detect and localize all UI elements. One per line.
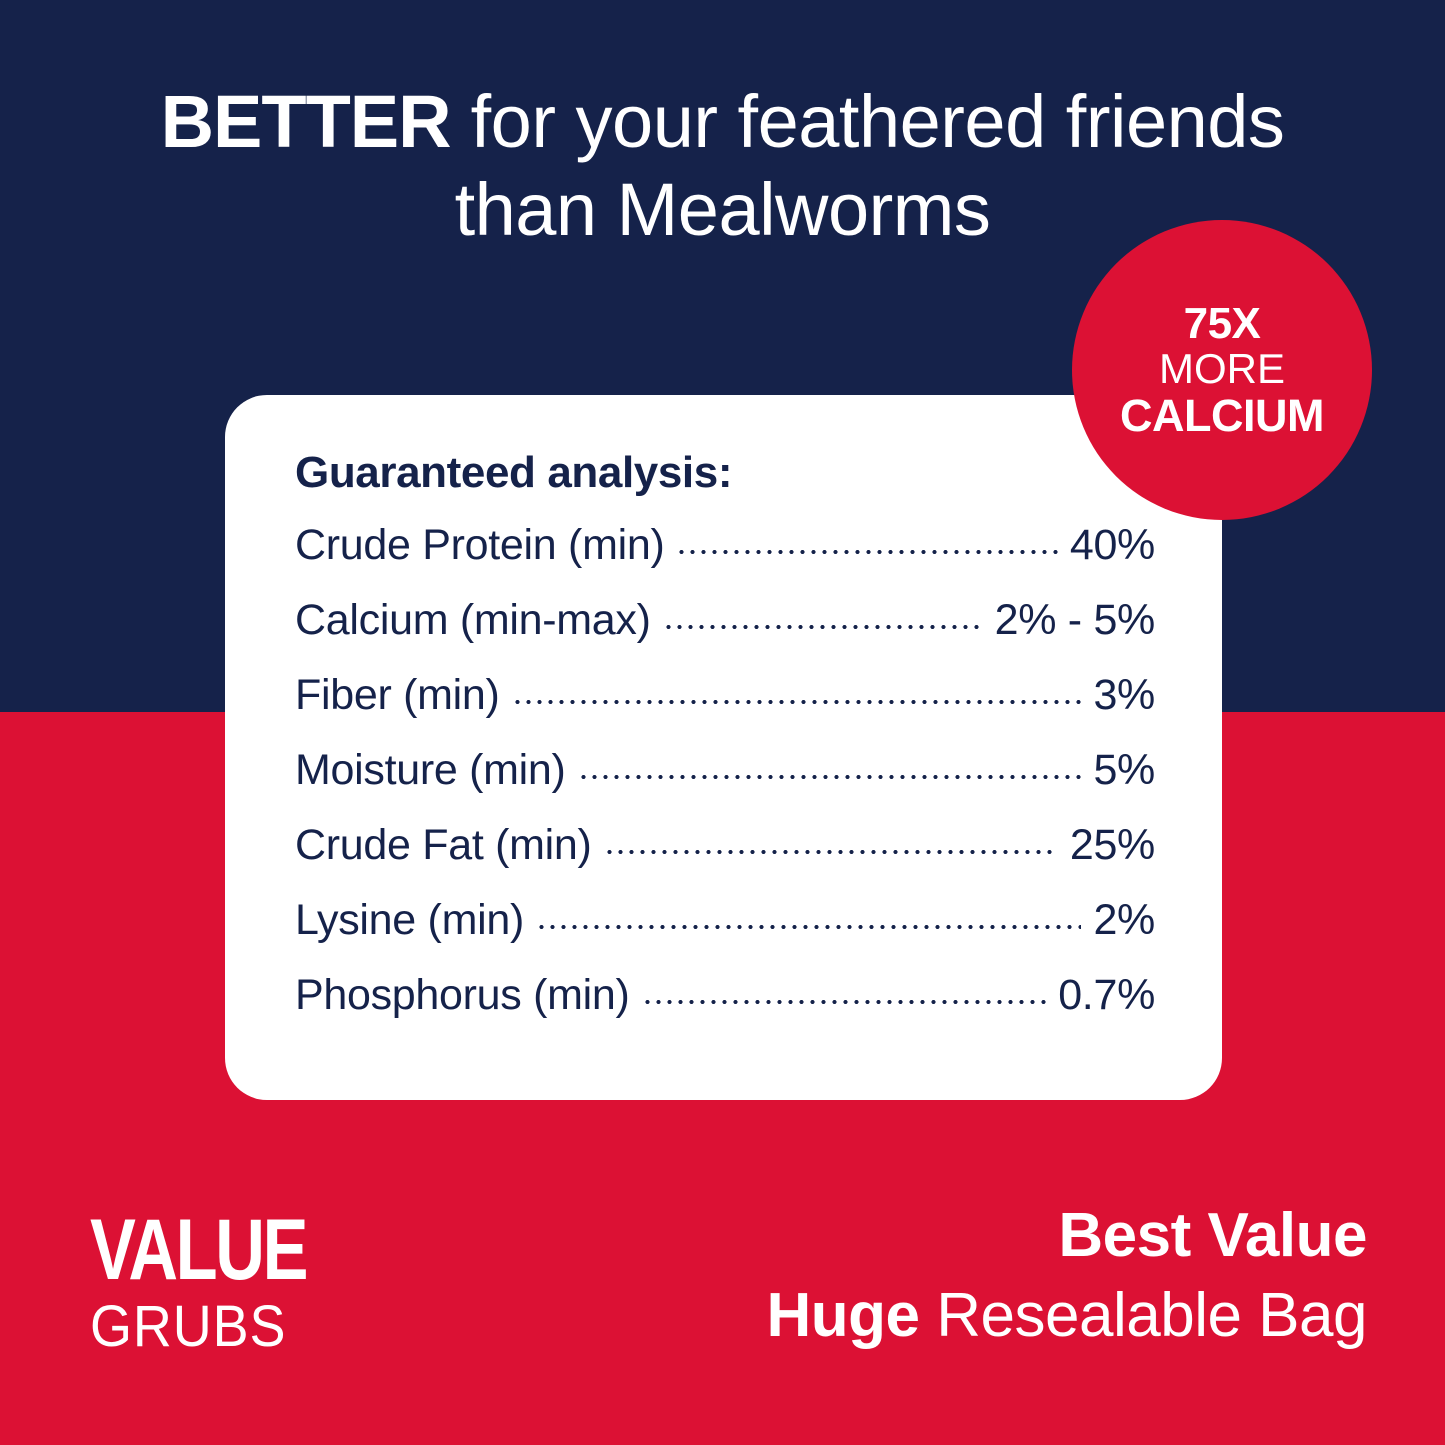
guaranteed-analysis-card: Guaranteed analysis: Crude Protein (min)… bbox=[225, 395, 1222, 1100]
tagline-line2: Huge Resealable Bag bbox=[767, 1276, 1367, 1356]
analysis-row-label: Phosphorus (min) bbox=[295, 971, 630, 1020]
analysis-title: Guaranteed analysis: bbox=[295, 447, 1155, 499]
analysis-row-value: 3% bbox=[1093, 671, 1155, 720]
brand-name-primary: VALUE bbox=[90, 1214, 346, 1286]
dotted-leader bbox=[578, 774, 1082, 780]
analysis-row: Lysine (min)2% bbox=[295, 896, 1155, 971]
analysis-row-value: 2% bbox=[1093, 896, 1155, 945]
dotted-leader bbox=[536, 924, 1081, 930]
analysis-row: Phosphorus (min)0.7% bbox=[295, 971, 1155, 1046]
dotted-leader bbox=[676, 549, 1057, 555]
badge-multiplier: 75X bbox=[1184, 301, 1261, 348]
headline-line1-rest: for your feathered friends bbox=[451, 80, 1285, 163]
dotted-leader bbox=[642, 999, 1047, 1005]
brand-name-secondary: GRUBS bbox=[90, 1298, 388, 1356]
analysis-row-label: Calcium (min-max) bbox=[295, 596, 651, 645]
dotted-leader bbox=[604, 849, 1058, 855]
analysis-row-label: Lysine (min) bbox=[295, 896, 524, 945]
tagline-line2-rest: Resealable Bag bbox=[920, 1281, 1367, 1350]
analysis-row-list: Crude Protein (min)40%Calcium (min-max)2… bbox=[295, 521, 1155, 1046]
analysis-row: Moisture (min)5% bbox=[295, 746, 1155, 821]
analysis-row-value: 40% bbox=[1070, 521, 1155, 570]
analysis-row: Fiber (min)3% bbox=[295, 671, 1155, 746]
analysis-row-label: Moisture (min) bbox=[295, 746, 566, 795]
analysis-row-value: 2% - 5% bbox=[995, 596, 1155, 645]
analysis-row-label: Crude Protein (min) bbox=[295, 521, 664, 570]
analysis-row: Crude Fat (min)25% bbox=[295, 821, 1155, 896]
analysis-row-value: 25% bbox=[1070, 821, 1155, 870]
product-feature-graphic: BETTER for your feathered friends than M… bbox=[0, 0, 1445, 1445]
analysis-row: Calcium (min-max)2% - 5% bbox=[295, 596, 1155, 671]
analysis-row: Crude Protein (min)40% bbox=[295, 521, 1155, 596]
analysis-row-label: Crude Fat (min) bbox=[295, 821, 592, 870]
value-tagline: Best Value Huge Resealable Bag bbox=[767, 1196, 1367, 1356]
dotted-leader bbox=[663, 624, 983, 630]
tagline-line2-emphasis: Huge bbox=[767, 1281, 920, 1350]
headline-emphasis: BETTER bbox=[161, 80, 451, 163]
tagline-line1: Best Value bbox=[767, 1196, 1367, 1276]
calcium-claim-badge: 75X MORE CALCIUM bbox=[1072, 220, 1372, 520]
badge-more-label: MORE bbox=[1159, 347, 1285, 392]
analysis-row-label: Fiber (min) bbox=[295, 671, 500, 720]
analysis-card-content: Guaranteed analysis: Crude Protein (min)… bbox=[295, 447, 1155, 1046]
analysis-row-value: 0.7% bbox=[1058, 971, 1155, 1020]
dotted-leader bbox=[512, 699, 1082, 705]
badge-nutrient-label: CALCIUM bbox=[1120, 392, 1324, 440]
analysis-row-value: 5% bbox=[1093, 746, 1155, 795]
brand-logo: VALUE GRUBS bbox=[90, 1214, 410, 1356]
